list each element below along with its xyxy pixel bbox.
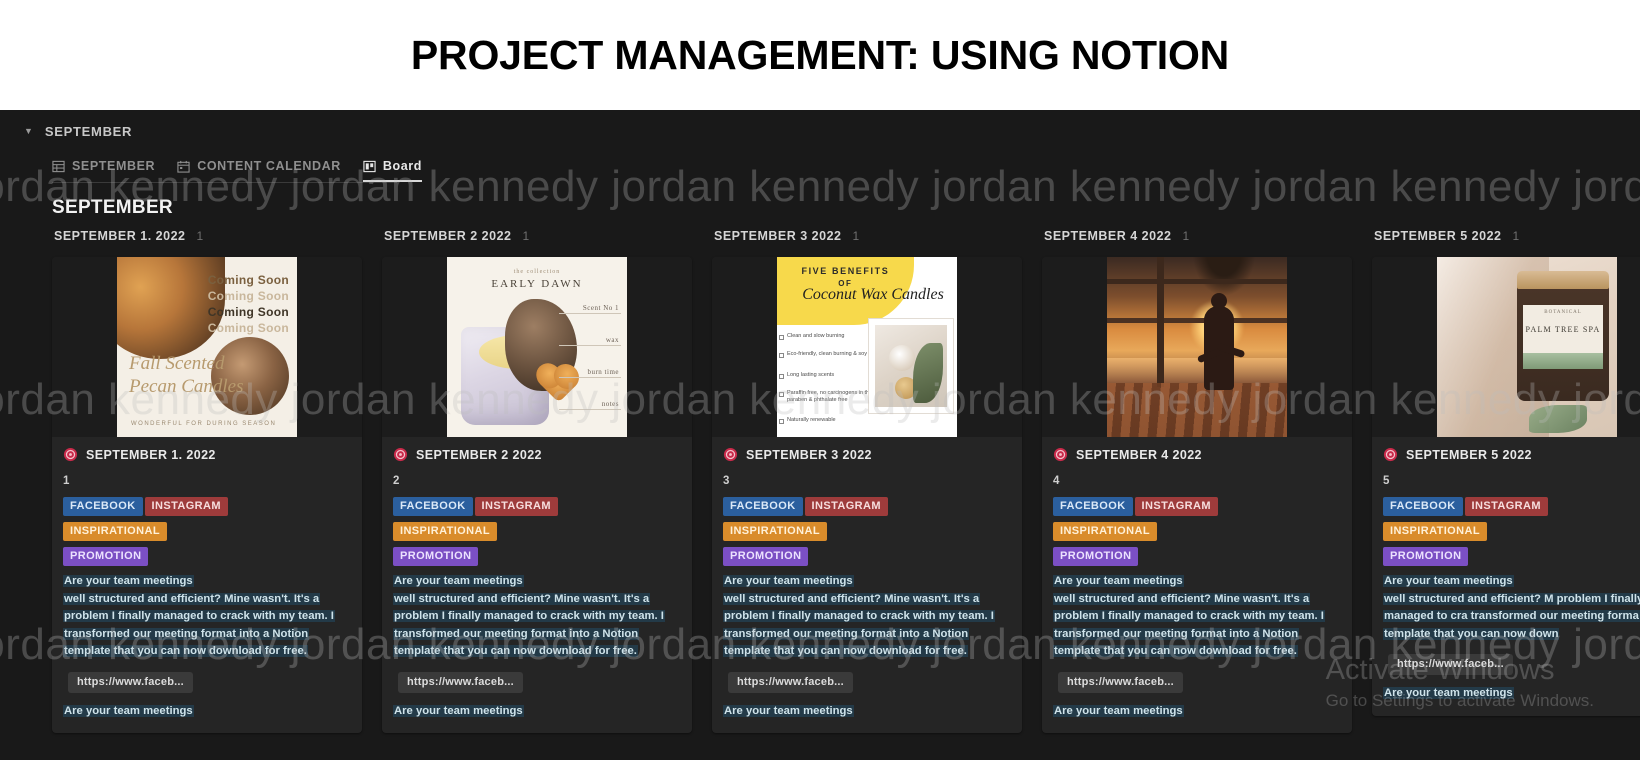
card-url-chip[interactable]: https://www.faceb... [68, 672, 193, 693]
card-text-overflow: Are your team meetings [1383, 685, 1640, 703]
card-number: 2 [393, 475, 681, 487]
target-icon [1383, 447, 1398, 462]
card-text-headline: Are your team meetings [1383, 575, 1514, 587]
card-number: 4 [1053, 475, 1341, 487]
notion-app-screenshot: ▼ SEPTEMBER SEPTEMBER [0, 110, 1640, 760]
card-text-body: well structured and efficient? Mine wasn… [63, 593, 335, 658]
card-text: Are your team meetings well structured a… [63, 573, 351, 661]
cover-label-name: PALM TREE SPA [1523, 325, 1603, 334]
card-url-chip[interactable]: https://www.faceb... [398, 672, 523, 693]
card-title-row: SEPTEMBER 2 2022 [393, 447, 681, 462]
card-title: SEPTEMBER 4 2022 [1076, 448, 1202, 462]
column-name: SEPTEMBER 5 2022 [1374, 229, 1502, 243]
cover-script-line: Pecan Candles [129, 375, 244, 399]
tag-row: PROMOTION [1053, 547, 1341, 566]
calendar-icon [177, 160, 190, 173]
tag-row: INSPIRATIONAL [393, 522, 681, 541]
board-card[interactable]: BOTANICAL PALM TREE SPA [1372, 257, 1640, 716]
card-text-headline: Are your team meetings [63, 705, 194, 717]
breadcrumb[interactable]: ▼ SEPTEMBER [0, 110, 1640, 142]
cover-title-script: Coconut Wax Candles [802, 287, 944, 304]
cover-label-kicker: BOTANICAL [1523, 310, 1603, 315]
board-title: SEPTEMBER [0, 197, 173, 219]
card-text-body: well structured and efficient? Mine wasn… [723, 593, 995, 658]
card-text-body: well structured and efficient? Mine wasn… [1053, 593, 1325, 658]
cover-note: burn time [587, 368, 619, 376]
card-text-headline: Are your team meetings [393, 575, 524, 587]
column-count: 1 [196, 229, 203, 243]
cover-footer: WONDERFUL FOR DURING SEASON [131, 421, 276, 427]
card-number: 1 [63, 475, 351, 487]
tag-row: FACEBOOK INSTAGRAM [1053, 497, 1341, 516]
tag-inspirational[interactable]: INSPIRATIONAL [723, 522, 827, 541]
card-text-headline: Are your team meetings [63, 575, 194, 587]
column-header[interactable]: SEPTEMBER 5 2022 1 [1372, 223, 1640, 249]
card-cover: Coming Soon Coming Soon Coming Soon Comi… [52, 257, 362, 437]
column-count: 1 [1513, 229, 1520, 243]
card-url-chip[interactable]: https://www.faceb... [728, 672, 853, 693]
card-url-chip[interactable]: https://www.faceb... [1058, 672, 1183, 693]
tab-content-calendar-label: CONTENT CALENDAR [197, 159, 341, 173]
board-columns: SEPTEMBER 1. 2022 1 Coming Soon Coming S… [0, 223, 1640, 733]
board-column: SEPTEMBER 3 2022 1 FIVE BENEFITS OF Coco… [712, 223, 1042, 733]
tag-row: INSPIRATIONAL [63, 522, 351, 541]
card-text-body: well structured and efficient? M problem… [1383, 593, 1640, 640]
card-title: SEPTEMBER 1. 2022 [86, 448, 216, 462]
tab-content-calendar[interactable]: CONTENT CALENDAR [177, 159, 341, 182]
card-title-row: SEPTEMBER 3 2022 [723, 447, 1011, 462]
board-column: SEPTEMBER 4 2022 1 [1042, 223, 1372, 733]
board-column: SEPTEMBER 1. 2022 1 Coming Soon Coming S… [52, 223, 382, 733]
tag-instagram[interactable]: INSTAGRAM [805, 497, 888, 516]
cover-image-early-dawn: the collection EARLY DAWN Scent No 1 wax… [447, 257, 627, 437]
card-cover: BOTANICAL PALM TREE SPA [1372, 257, 1640, 437]
tab-board[interactable]: Board [363, 159, 422, 182]
card-text-overflow: Are your team meetings [393, 703, 681, 721]
cover-text: Coming Soon [208, 273, 289, 287]
card-text: Are your team meetings well structured a… [393, 573, 681, 661]
board-card[interactable]: the collection EARLY DAWN Scent No 1 wax… [382, 257, 692, 733]
tag-row: PROMOTION [723, 547, 1011, 566]
tag-row: PROMOTION [63, 547, 351, 566]
tag-row: FACEBOOK INSTAGRAM [723, 497, 1011, 516]
card-text: Are your team meetings well structured a… [1383, 573, 1640, 643]
card-text-headline: Are your team meetings [1053, 575, 1184, 587]
card-number: 3 [723, 475, 1011, 487]
column-header[interactable]: SEPTEMBER 2 2022 1 [382, 223, 712, 249]
cover-text: Coming Soon [208, 289, 289, 303]
tag-row: PROMOTION [1383, 547, 1640, 566]
cover-image-five-benefits: FIVE BENEFITS OF Coconut Wax Candles Cle… [777, 257, 957, 437]
cover-image-sunset-silhouette [1107, 257, 1287, 437]
card-body: SEPTEMBER 1. 2022 1 FACEBOOK INSTAGRAM I… [52, 437, 362, 733]
card-body: SEPTEMBER 3 2022 3 FACEBOOK INSTAGRAM IN… [712, 437, 1022, 733]
card-text-body: well structured and efficient? Mine wasn… [393, 593, 665, 658]
card-cover [1042, 257, 1352, 437]
tab-september-label: SEPTEMBER [72, 159, 155, 173]
tag-instagram[interactable]: INSTAGRAM [1465, 497, 1548, 516]
card-title: SEPTEMBER 2 2022 [416, 448, 542, 462]
tag-row: FACEBOOK INSTAGRAM [1383, 497, 1640, 516]
page-title: PROJECT MANAGEMENT: USING NOTION [411, 32, 1229, 79]
tag-facebook[interactable]: FACEBOOK [1053, 497, 1133, 516]
tag-instagram[interactable]: INSTAGRAM [475, 497, 558, 516]
tag-inspirational[interactable]: INSPIRATIONAL [1053, 522, 1157, 541]
tag-row: INSPIRATIONAL [723, 522, 1011, 541]
card-text-headline: Are your team meetings [1053, 705, 1184, 717]
cover-kicker: the collection [447, 269, 627, 275]
caret-down-icon[interactable]: ▼ [24, 127, 33, 136]
tag-row: INSPIRATIONAL [1053, 522, 1341, 541]
card-text-headline: Are your team meetings [393, 705, 524, 717]
card-number: 5 [1383, 475, 1640, 487]
cover-text: Coming Soon [208, 305, 289, 319]
tag-facebook[interactable]: FACEBOOK [393, 497, 473, 516]
tag-row: FACEBOOK INSTAGRAM [393, 497, 681, 516]
tag-facebook[interactable]: FACEBOOK [723, 497, 803, 516]
column-count: 1 [853, 229, 860, 243]
card-title-row: SEPTEMBER 5 2022 [1383, 447, 1640, 462]
card-title-row: SEPTEMBER 4 2022 [1053, 447, 1341, 462]
card-cover: FIVE BENEFITS OF Coconut Wax Candles Cle… [712, 257, 1022, 437]
tag-promotion[interactable]: PROMOTION [393, 547, 478, 566]
card-text-overflow: Are your team meetings [1053, 703, 1341, 721]
target-icon [1053, 447, 1068, 462]
column-name: SEPTEMBER 2 2022 [384, 229, 512, 243]
column-count: 1 [1183, 229, 1190, 243]
tag-inspirational[interactable]: INSPIRATIONAL [1383, 522, 1487, 541]
target-icon [723, 447, 738, 462]
table-icon [52, 160, 65, 173]
tag-promotion[interactable]: PROMOTION [1053, 547, 1138, 566]
cover-note: Scent No 1 [583, 304, 619, 312]
cover-note: wax [606, 336, 619, 344]
tag-row: FACEBOOK INSTAGRAM [63, 497, 351, 516]
card-title-row: SEPTEMBER 1. 2022 [63, 447, 351, 462]
column-name: SEPTEMBER 1. 2022 [54, 229, 185, 243]
board-column: SEPTEMBER 5 2022 1 BOTANICAL PALM TREE S… [1372, 223, 1640, 733]
cover-script: Fall Scented Pecan Candles [129, 352, 244, 400]
card-text-overflow: Are your team meetings [63, 703, 351, 721]
card-title: SEPTEMBER 3 2022 [746, 448, 872, 462]
target-icon [63, 447, 78, 462]
card-url-chip[interactable]: https://www.faceb... [1388, 654, 1513, 675]
view-tabs: SEPTEMBER CONTENT CALENDAR [0, 148, 1640, 182]
card-text: Are your team meetings well structured a… [723, 573, 1011, 661]
column-header[interactable]: SEPTEMBER 3 2022 1 [712, 223, 1042, 249]
tag-promotion[interactable]: PROMOTION [723, 547, 808, 566]
tag-row: PROMOTION [393, 547, 681, 566]
card-text: Are your team meetings well structured a… [1053, 573, 1341, 661]
card-text-headline: Are your team meetings [1383, 687, 1514, 699]
tag-inspirational[interactable]: INSPIRATIONAL [393, 522, 497, 541]
board-title-wrap: SEPTEMBER [0, 183, 1640, 217]
tab-september[interactable]: SEPTEMBER [52, 159, 155, 182]
cover-note: notes [602, 400, 619, 408]
card-body: SEPTEMBER 2 2022 2 FACEBOOK INSTAGRAM IN… [382, 437, 692, 733]
tag-facebook[interactable]: FACEBOOK [1383, 497, 1463, 516]
card-body: SEPTEMBER 5 2022 5 FACEBOOK INSTAGRAM IN… [1372, 437, 1640, 716]
cover-title-line: FIVE BENEFITS [777, 266, 914, 276]
slide-header: PROJECT MANAGEMENT: USING NOTION [0, 0, 1640, 110]
cover-script-line: Fall Scented [129, 352, 244, 376]
tag-promotion[interactable]: PROMOTION [1383, 547, 1468, 566]
column-header[interactable]: SEPTEMBER 4 2022 1 [1042, 223, 1372, 249]
cover-heading: EARLY DAWN [447, 278, 627, 290]
cover-image-botanical-candle: BOTANICAL PALM TREE SPA [1437, 257, 1617, 437]
tag-promotion[interactable]: PROMOTION [63, 547, 148, 566]
card-text-headline: Are your team meetings [723, 575, 854, 587]
column-header[interactable]: SEPTEMBER 1. 2022 1 [52, 223, 382, 249]
card-text-overflow: Are your team meetings [723, 703, 1011, 721]
tag-instagram[interactable]: INSTAGRAM [1135, 497, 1218, 516]
column-count: 1 [523, 229, 530, 243]
board-card[interactable]: SEPTEMBER 4 2022 4 FACEBOOK INSTAGRAM IN… [1042, 257, 1352, 733]
board-icon [363, 160, 376, 173]
board-card[interactable]: FIVE BENEFITS OF Coconut Wax Candles Cle… [712, 257, 1022, 733]
cover-bullet: Naturally renewable [787, 417, 907, 424]
column-name: SEPTEMBER 3 2022 [714, 229, 842, 243]
card-title: SEPTEMBER 5 2022 [1406, 448, 1532, 462]
card-cover: the collection EARLY DAWN Scent No 1 wax… [382, 257, 692, 437]
target-icon [393, 447, 408, 462]
board-column: SEPTEMBER 2 2022 1 the collection EARLY … [382, 223, 712, 733]
breadcrumb-label[interactable]: SEPTEMBER [45, 124, 132, 139]
tag-facebook[interactable]: FACEBOOK [63, 497, 143, 516]
column-name: SEPTEMBER 4 2022 [1044, 229, 1172, 243]
cover-image-coming-soon: Coming Soon Coming Soon Coming Soon Comi… [117, 257, 297, 437]
tag-inspirational[interactable]: INSPIRATIONAL [63, 522, 167, 541]
board-card[interactable]: Coming Soon Coming Soon Coming Soon Comi… [52, 257, 362, 733]
tag-instagram[interactable]: INSTAGRAM [145, 497, 228, 516]
cover-text: Coming Soon [208, 321, 289, 335]
tab-board-label: Board [383, 159, 422, 173]
card-body: SEPTEMBER 4 2022 4 FACEBOOK INSTAGRAM IN… [1042, 437, 1352, 733]
card-text-headline: Are your team meetings [723, 705, 854, 717]
tag-row: INSPIRATIONAL [1383, 522, 1640, 541]
